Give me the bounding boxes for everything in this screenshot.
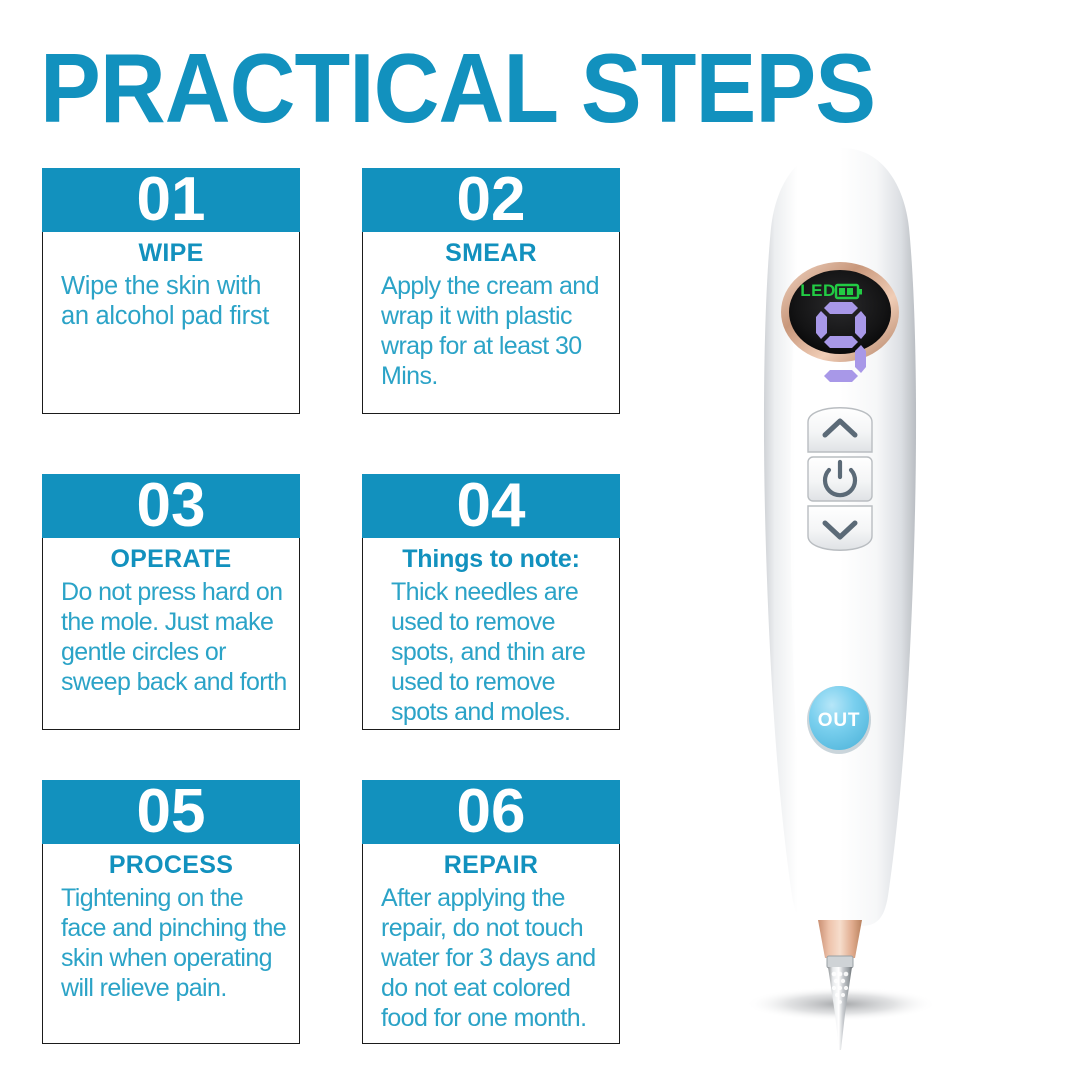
step-title: REPAIR	[371, 850, 611, 880]
step-description: After applying the repair, do not touch …	[371, 883, 611, 1033]
step-card-body: SMEAR Apply the cream and wrap it with p…	[362, 232, 620, 414]
step-number-badge: 05	[42, 780, 300, 844]
step-number-badge: 04	[362, 474, 620, 538]
step-number-badge: 01	[42, 168, 300, 232]
display-led-label: LED	[800, 281, 836, 300]
tip-ferrule	[827, 956, 853, 968]
infographic-page: PRACTICAL STEPS 01 WIPE Wipe the skin wi…	[0, 0, 1080, 1080]
step-description: Do not press hard on the mole. Just make…	[51, 577, 291, 697]
step-description: Wipe the skin with an alcohol pad first	[51, 271, 291, 331]
step-title: OPERATE	[51, 544, 291, 574]
down-button[interactable]	[808, 506, 872, 550]
out-button[interactable]: OUT	[807, 686, 871, 754]
step-description: Tightening on the face and pinching the …	[51, 883, 291, 1003]
step-title: WIPE	[51, 238, 291, 268]
out-button-label: OUT	[818, 710, 861, 731]
step-title: Things to note:	[371, 544, 611, 574]
step-card-body: REPAIR After applying the repair, do not…	[362, 844, 620, 1044]
step-card-04: 04 Things to note: Thick needles are use…	[362, 474, 620, 730]
up-button[interactable]	[808, 408, 872, 452]
step-card-body: WIPE Wipe the skin with an alcohol pad f…	[42, 232, 300, 414]
step-description: Thick needles are used to remove spots, …	[371, 577, 611, 727]
step-description: Apply the cream and wrap it with plastic…	[371, 271, 611, 391]
step-card-body: Things to note: Thick needles are used t…	[362, 538, 620, 730]
step-title: SMEAR	[371, 238, 611, 268]
step-number-badge: 03	[42, 474, 300, 538]
step-card-02: 02 SMEAR Apply the cream and wrap it wit…	[362, 168, 620, 414]
step-card-body: OPERATE Do not press hard on the mole. J…	[42, 538, 300, 730]
step-card-01: 01 WIPE Wipe the skin with an alcohol pa…	[42, 168, 300, 414]
step-number-badge: 06	[362, 780, 620, 844]
product-image-plasma-pen: LED	[700, 120, 1000, 1050]
step-card-03: 03 OPERATE Do not press hard on the mole…	[42, 474, 300, 730]
step-title: PROCESS	[51, 850, 291, 880]
step-card-05: 05 PROCESS Tightening on the face and pi…	[42, 780, 300, 1044]
tip-collar	[818, 920, 862, 958]
power-button[interactable]	[808, 457, 872, 501]
step-card-06: 06 REPAIR After applying the repair, do …	[362, 780, 620, 1044]
step-card-body: PROCESS Tightening on the face and pinch…	[42, 844, 300, 1044]
step-number-badge: 02	[362, 168, 620, 232]
